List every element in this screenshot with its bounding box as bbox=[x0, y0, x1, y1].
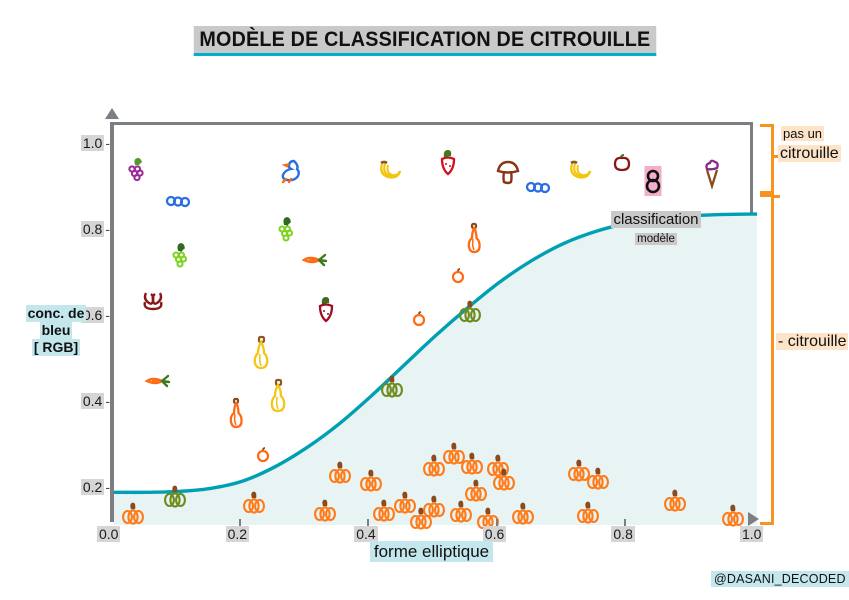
x-axis-label-text: forme elliptique bbox=[370, 541, 493, 562]
y-axis-label-line1: conc. de bbox=[26, 305, 87, 322]
data-point-pumpkin-orange bbox=[721, 505, 745, 527]
data-point-blueberries bbox=[525, 180, 551, 194]
data-point-banana-bunch bbox=[376, 159, 404, 181]
data-point-squash-yellow bbox=[268, 379, 288, 413]
x-tick-mark bbox=[239, 519, 241, 526]
data-point-ice-cream-cone bbox=[702, 160, 722, 188]
x-tick-label: 0.6 bbox=[483, 526, 506, 542]
data-point-pretzel bbox=[140, 289, 166, 313]
data-point-carrot-orange bbox=[298, 252, 328, 268]
data-point-duck bbox=[278, 158, 304, 182]
data-point-pumpkin-green bbox=[458, 301, 482, 323]
data-point-pumpkin-orange bbox=[663, 490, 687, 512]
y-tick-text: 1.0 bbox=[81, 135, 104, 151]
bracket-label-not-pumpkin-line1: pas un bbox=[781, 126, 824, 141]
y-tick-label: 0.2- bbox=[68, 479, 110, 495]
y-tick-label: 0.4- bbox=[68, 393, 110, 409]
data-point-strawberry-dark bbox=[316, 297, 336, 323]
bracket-label-not-pumpkin-line2-text: citrouille bbox=[778, 145, 841, 162]
x-axis-arrow-icon bbox=[748, 512, 759, 526]
y-tick-dash: - bbox=[104, 221, 110, 237]
data-point-apple-small bbox=[255, 447, 271, 463]
classification-region-fill bbox=[114, 214, 757, 525]
x-tick-mark bbox=[496, 519, 498, 526]
x-tick-label: 0.8 bbox=[611, 526, 634, 542]
model-annotation-line1: classification bbox=[611, 211, 700, 228]
data-point-apple-small bbox=[411, 311, 427, 327]
data-point-highlighted-item bbox=[645, 168, 661, 194]
x-axis-label: forme elliptique bbox=[110, 542, 753, 562]
data-point-grapes-green bbox=[275, 217, 297, 243]
y-tick-dash: - bbox=[104, 479, 110, 495]
y-axis-label: conc. de bleu [ RGB] bbox=[8, 305, 104, 356]
x-tick-label: 0.4 bbox=[354, 526, 377, 542]
data-point-gourd-orange bbox=[226, 398, 246, 430]
model-annotation-line2: modèle bbox=[635, 233, 677, 245]
y-tick-text: 0.4 bbox=[81, 393, 104, 409]
y-axis-label-line3: [ RGB] bbox=[32, 339, 80, 356]
data-point-pumpkin-orange bbox=[313, 500, 337, 522]
data-point-carrot-orange bbox=[141, 373, 171, 389]
model-annotation: classification modèle bbox=[596, 211, 716, 247]
bracket-label-not-pumpkin-line2: citrouille bbox=[778, 145, 841, 163]
data-point-pumpkin-orange bbox=[576, 502, 600, 524]
bracket-label-not-pumpkin-line1-text: pas un bbox=[781, 126, 824, 141]
data-point-pumpkin-orange bbox=[409, 508, 433, 530]
bracket-label-pumpkin: - citrouille bbox=[776, 333, 848, 351]
y-tick-dash: - bbox=[104, 393, 110, 409]
page-title: MODÈLE DE CLASSIFICATION DE CITROUILLE bbox=[0, 26, 849, 56]
bracket-label-pumpkin-text: - citrouille bbox=[776, 333, 848, 350]
data-point-pumpkin-orange bbox=[460, 453, 484, 475]
data-point-pumpkin-orange bbox=[464, 480, 488, 502]
y-tick-label: 1.0- bbox=[68, 135, 110, 151]
y-axis-arrow-icon bbox=[105, 108, 119, 119]
data-point-grapes-green bbox=[169, 243, 191, 269]
bracket-pumpkin-tick bbox=[771, 195, 780, 198]
page-title-text: MODÈLE DE CLASSIFICATION DE CITROUILLE bbox=[193, 26, 655, 56]
y-tick-text: 0.2 bbox=[81, 479, 104, 495]
data-point-blueberries bbox=[165, 194, 191, 208]
data-point-apple-small bbox=[450, 268, 466, 284]
y-axis-label-line2: bleu bbox=[40, 322, 73, 339]
x-tick-label: 1.0 bbox=[740, 526, 763, 542]
x-tick-mark bbox=[624, 519, 626, 526]
y-tick-text: 0.8 bbox=[81, 221, 104, 237]
data-point-strawberry-red bbox=[438, 150, 458, 176]
data-point-pumpkin-green bbox=[163, 486, 187, 508]
x-tick-label: 0.0 bbox=[97, 526, 120, 542]
y-tick-dash: - bbox=[104, 307, 110, 323]
bracket-not-pumpkin bbox=[760, 124, 774, 194]
y-tick-dash: - bbox=[104, 135, 110, 151]
watermark: @DASANI_DECODED bbox=[711, 570, 849, 588]
data-point-pumpkin-orange bbox=[492, 469, 516, 491]
watermark-text: @DASANI_DECODED bbox=[711, 571, 849, 587]
data-point-pumpkin-orange bbox=[449, 501, 473, 523]
data-point-pumpkin-orange bbox=[359, 470, 383, 492]
bracket-pumpkin bbox=[760, 194, 774, 525]
data-point-mushroom bbox=[495, 160, 521, 184]
data-point-pumpkin-orange bbox=[511, 503, 535, 525]
data-point-pumpkin-orange bbox=[586, 468, 610, 490]
x-tick-label: 0.2 bbox=[226, 526, 249, 542]
data-point-grapes-purple bbox=[126, 158, 148, 182]
data-point-squash-yellow bbox=[251, 336, 271, 370]
data-point-pumpkin-orange bbox=[121, 503, 145, 525]
data-point-pumpkin-green bbox=[380, 376, 404, 398]
data-point-pumpkin-orange bbox=[242, 492, 266, 514]
data-point-pumpkin-orange bbox=[328, 462, 352, 484]
data-point-gourd-orange bbox=[464, 223, 484, 255]
chart-plot-area bbox=[110, 122, 753, 522]
y-tick-label: 0.8- bbox=[68, 221, 110, 237]
data-point-banana-bunch bbox=[566, 159, 594, 181]
data-point-apple-dark bbox=[612, 154, 632, 172]
x-tick-mark bbox=[367, 519, 369, 526]
